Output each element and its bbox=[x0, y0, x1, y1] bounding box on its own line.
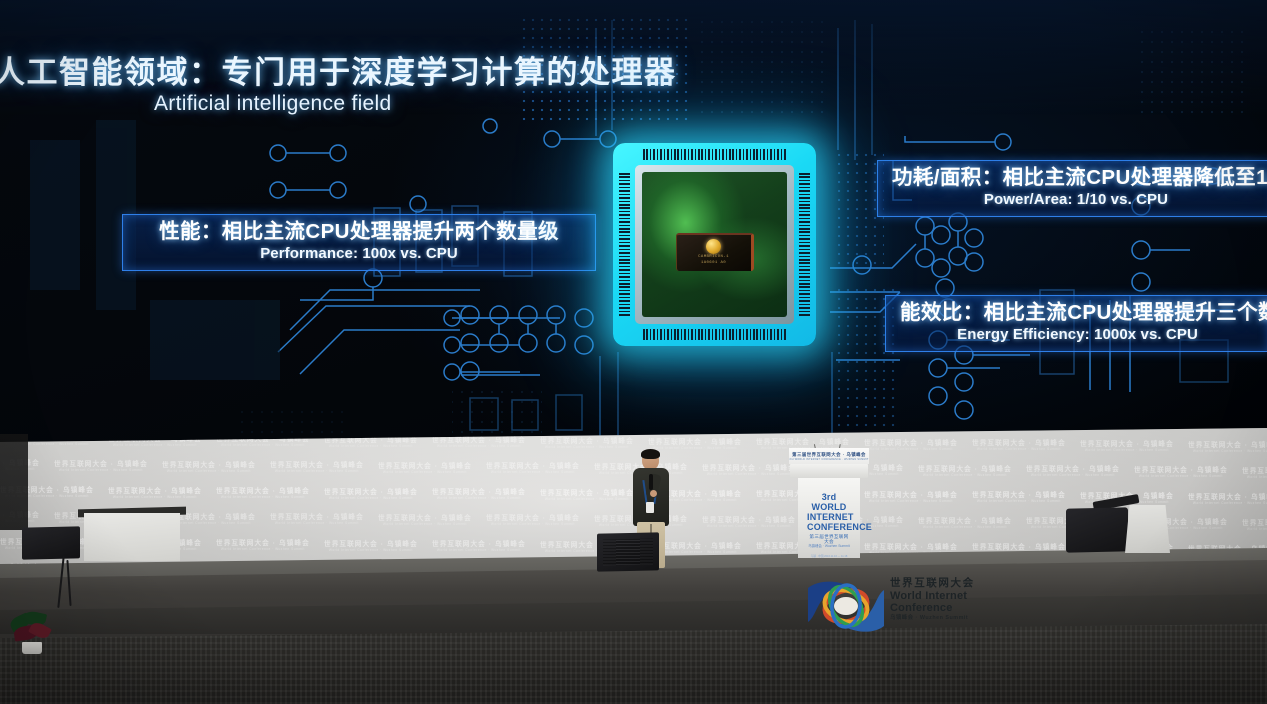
callout-energy-efficiency: 能效比：相比主流CPU处理器提升三个数量级 Energy Efficiency:… bbox=[885, 295, 1267, 352]
stage-monitor-grille bbox=[603, 538, 653, 565]
podium-body: 3rd WORLD INTERNET CONFERENCE 第三届世界互联网大会… bbox=[798, 478, 860, 558]
stage-light-arm bbox=[1093, 494, 1140, 511]
conference-stage-photo: 人工智能领域：专门用于深度学习计算的处理器 Artificial intelli… bbox=[0, 0, 1267, 704]
slide-title-cn: 人工智能领域：专门用于深度学习计算的处理器 bbox=[0, 56, 634, 91]
podium-header-banner: 第三届世界互联网大会 · 乌镇峰会 3rd WORLD INTERNET CON… bbox=[789, 448, 869, 464]
backdrop-watermark: 世界互联网大会 · 乌镇峰会World Internet Conference … bbox=[810, 466, 904, 476]
chip-pins-bottom bbox=[643, 329, 786, 340]
backdrop-watermark: 世界互联网大会 · 乌镇峰会World Internet Conference … bbox=[162, 515, 256, 525]
speaker-podium: 第三届世界互联网大会 · 乌镇峰会 3rd WORLD INTERNET CON… bbox=[798, 472, 860, 558]
presenter-arm bbox=[645, 473, 661, 499]
backdrop-watermark: 世界互联网大会 · 乌镇峰会World Internet Conference … bbox=[918, 571, 1012, 578]
podium-sub: 乌镇峰会 · Wuzhen Summit bbox=[807, 545, 851, 549]
backdrop-watermark: 世界互联网大会 · 乌镇峰会World Internet Conference … bbox=[1080, 546, 1174, 556]
backdrop-watermark: 世界互联网大会 · 乌镇峰会World Internet Conference … bbox=[972, 493, 1066, 503]
backdrop-watermark: 世界互联网大会 · 乌镇峰会World Internet Conference … bbox=[108, 489, 202, 499]
floor-logo-cn: 世界互联网大会 bbox=[890, 578, 1040, 590]
backdrop-watermark: 世界互联网大会 · 乌镇峰会World Internet Conference … bbox=[0, 488, 94, 498]
presenter-badge bbox=[646, 502, 654, 513]
backdrop-watermark: 世界互联网大会 · 乌镇峰会World Internet Conference … bbox=[972, 441, 1066, 451]
backdrop-watermark: 世界互联网大会 · 乌镇峰会World Internet Conference … bbox=[540, 439, 634, 449]
chip-package: CAMBRICON-1 1A0601 A0 bbox=[635, 165, 794, 324]
backdrop-watermark: 世界互联网大会 · 乌镇峰会World Internet Conference … bbox=[1242, 573, 1267, 578]
stage-step bbox=[0, 594, 1267, 634]
backdrop-watermark: 世界互联网大会 · 乌镇峰会World Internet Conference … bbox=[648, 544, 742, 554]
backdrop-watermark: 世界互联网大会 · 乌镇峰会World Internet Conference … bbox=[1242, 469, 1267, 479]
backdrop-watermark: 世界互联网大会 · 乌镇峰会World Internet Conference … bbox=[162, 567, 256, 577]
backdrop-watermark: 世界互联网大会 · 乌镇峰会World Internet Conference … bbox=[324, 490, 418, 500]
backdrop-watermark: 世界互联网大会 · 乌镇峰会World Internet Conference … bbox=[270, 567, 364, 577]
stage-table bbox=[84, 513, 180, 561]
floor-logo-text: 世界互联网大会 World Internet Conference 乌镇峰会 ·… bbox=[890, 578, 1040, 621]
plant-pot bbox=[22, 642, 42, 654]
backdrop-watermark: 世界互联网大会 · 乌镇峰会World Internet Conference … bbox=[270, 463, 364, 473]
floor-logo-en2: Conference bbox=[890, 602, 1040, 614]
presentation-screen: 人工智能领域：专门用于深度学习计算的处理器 Artificial intelli… bbox=[0, 0, 1267, 442]
backdrop-watermark: 世界互联网大会 · 乌镇峰会World Internet Conference … bbox=[648, 492, 742, 502]
backdrop-watermark: 世界互联网大会 · 乌镇峰会World Internet Conference … bbox=[1026, 519, 1120, 529]
chip-text-line2: 1A0601 A0 bbox=[701, 261, 726, 266]
wic-logo-mark-icon bbox=[800, 578, 892, 634]
chip-die: CAMBRICON-1 1A0601 A0 bbox=[642, 172, 787, 317]
backdrop-watermark: 世界互联网大会 · 乌镇峰会World Internet Conference … bbox=[216, 541, 310, 551]
podium-mic-stem-left bbox=[814, 444, 819, 464]
backdrop-watermark: 世界互联网大会 · 乌镇峰会World Internet Conference … bbox=[1134, 520, 1228, 530]
callout-power-area-en: Power/Area: 1/10 vs. CPU bbox=[892, 191, 1260, 209]
podium-line3: CONFERENCE bbox=[807, 522, 851, 532]
backdrop-watermark: 世界互联网大会 · 乌镇峰会World Internet Conference … bbox=[54, 566, 148, 576]
chip-inner-module: CAMBRICON-1 1A0601 A0 bbox=[676, 233, 754, 271]
floor-logo-subtitle: 乌镇峰会 · Wuzhen Summit bbox=[890, 615, 1040, 621]
slide-title-en: Artificial intelligence field bbox=[154, 92, 634, 116]
backdrop-watermark: 世界互联网大会 · 乌镇峰会World Internet Conference … bbox=[378, 568, 472, 578]
backdrop-watermark: 世界互联网大会 · 乌镇峰会World Internet Conference … bbox=[594, 569, 688, 578]
callout-power-area: 功耗/面积：相比主流CPU处理器降低至1/10 Power/Area: 1/10… bbox=[877, 160, 1267, 217]
backdrop-watermark: 世界互联网大会 · 乌镇峰会World Internet Conference … bbox=[1188, 547, 1267, 557]
podium-body-text: 乌镇 · 中国 2016.11.16 — 11.18 bbox=[807, 555, 851, 559]
podium-mic-stem-right bbox=[836, 444, 840, 464]
callout-energy-efficiency-en: Energy Efficiency: 1000x vs. CPU bbox=[900, 326, 1255, 344]
backdrop-watermark: 世界互联网大会 · 乌镇峰会World Internet Conference … bbox=[1242, 521, 1267, 531]
presenter-torso bbox=[633, 468, 669, 526]
podium-banner-en: 3rd WORLD INTERNET CONFERENCE · WUZHEN S… bbox=[789, 458, 869, 461]
backdrop-watermark: 世界互联网大会 · 乌镇峰会World Internet Conference … bbox=[1026, 467, 1120, 477]
podium-signage: 3rd WORLD INTERNET CONFERENCE 第三届世界互联网大会… bbox=[807, 492, 851, 559]
backdrop-watermark: 世界互联网大会 · 乌镇峰会World Internet Conference … bbox=[378, 464, 472, 474]
backdrop-watermark: 世界互联网大会 · 乌镇峰会World Internet Conference … bbox=[594, 517, 688, 527]
backdrop-watermark: 世界互联网大会 · 乌镇峰会World Internet Conference … bbox=[1026, 571, 1120, 578]
auditorium-floor bbox=[0, 624, 1267, 704]
stage-monitor-center bbox=[597, 532, 659, 571]
backdrop-watermark: 世界互联网大会 · 乌镇峰会World Internet Conference … bbox=[594, 465, 688, 475]
callout-performance: 性能：相比主流CPU处理器提升两个数量级 Performance: 100x v… bbox=[122, 214, 596, 271]
backdrop-watermark: 世界互联网大会 · 乌镇峰会World Internet Conference … bbox=[0, 513, 40, 523]
backdrop-watermark: 世界互联网大会 · 乌镇峰会World Internet Conference … bbox=[810, 518, 904, 528]
chip-pins-right bbox=[799, 173, 810, 316]
backdrop-watermark: 世界互联网大会 · 乌镇峰会World Internet Conference … bbox=[54, 514, 148, 524]
stage-monitor-left bbox=[22, 526, 80, 559]
backdrop-watermark: 世界互联网大会 · 乌镇峰会World Internet Conference … bbox=[378, 516, 472, 526]
chip-logo-icon bbox=[706, 239, 721, 254]
stage-deck bbox=[0, 548, 1267, 578]
backdrop-watermark: 世界互联网大会 · 乌镇峰会World Internet Conference … bbox=[648, 440, 742, 450]
backdrop-watermark: 世界互联网大会 · 乌镇峰会World Internet Conference … bbox=[324, 542, 418, 552]
backdrop-watermark: 世界互联网大会 · 乌镇峰会World Internet Conference … bbox=[918, 519, 1012, 529]
podium-cn: 第三届世界互联网大会 bbox=[807, 534, 851, 544]
backdrop-watermark: 世界互联网大会 · 乌镇峰会World Internet Conference … bbox=[702, 570, 796, 578]
backdrop-watermark: 世界互联网大会 · 乌镇峰会World Internet Conference … bbox=[1080, 442, 1174, 452]
callout-performance-cn: 性能：相比主流CPU处理器提升两个数量级 bbox=[137, 220, 581, 244]
backdrop-watermark: 世界互联网大会 · 乌镇峰会World Internet Conference … bbox=[162, 463, 256, 473]
backdrop-watermark: 世界互联网大会 · 乌镇峰会World Internet Conference … bbox=[810, 570, 904, 578]
slide-title-block: 人工智能领域：专门用于深度学习计算的处理器 Artificial intelli… bbox=[0, 56, 634, 116]
chip-pins-left bbox=[619, 173, 630, 316]
backdrop-watermark: 世界互联网大会 · 乌镇峰会World Internet Conference … bbox=[108, 541, 202, 551]
stage-plant bbox=[8, 610, 56, 654]
podium-line1: 3rd WORLD bbox=[807, 492, 851, 512]
floor-conference-logo: 世界互联网大会 World Internet Conference 乌镇峰会 ·… bbox=[792, 576, 1042, 638]
backdrop-watermark: 世界互联网大会 · 乌镇峰会World Internet Conference … bbox=[1188, 495, 1267, 505]
backdrop-watermark: 世界互联网大会 · 乌镇峰会World Internet Conference … bbox=[702, 518, 796, 528]
stage-backdrop-wall: 世界互联网大会 · 乌镇峰会World Internet Conference … bbox=[0, 428, 1267, 578]
stage-left-shadow bbox=[0, 434, 28, 530]
callout-performance-en: Performance: 100x vs. CPU bbox=[137, 245, 581, 263]
backdrop-watermark: 世界互联网大会 · 乌镇峰会World Internet Conference … bbox=[432, 542, 526, 552]
backdrop-watermark: 世界互联网大会 · 乌镇峰会World Internet Conference … bbox=[0, 540, 94, 550]
backdrop-watermark: 世界互联网大会 · 乌镇峰会World Internet Conference … bbox=[1134, 572, 1228, 578]
backdrop-watermark: 世界互联网大会 · 乌镇峰会World Internet Conference … bbox=[270, 515, 364, 525]
stage-white-block bbox=[1125, 505, 1170, 553]
presenter-leg-split bbox=[650, 524, 652, 568]
chip-pins-top bbox=[643, 149, 786, 160]
backdrop-watermark: 世界互联网大会 · 乌镇峰会World Internet Conference … bbox=[756, 440, 850, 450]
floor-logo-en1: World Internet bbox=[890, 590, 1040, 602]
backdrop-watermark: 世界互联网大会 · 乌镇峰会World Internet Conference … bbox=[864, 441, 958, 451]
backdrop-watermark: 世界互联网大会 · 乌镇峰会World Internet Conference … bbox=[918, 467, 1012, 477]
presenter-microphone bbox=[649, 474, 653, 490]
backdrop-watermark: 世界互联网大会 · 乌镇峰会World Internet Conference … bbox=[1188, 443, 1267, 453]
backdrop-watermark: 世界互联网大会 · 乌镇峰会World Internet Conference … bbox=[432, 490, 526, 500]
stage-cable-2 bbox=[66, 560, 71, 606]
backdrop-watermark: 世界互联网大会 · 乌镇峰会World Internet Conference … bbox=[864, 493, 958, 503]
backdrop-watermark: 世界互联网大会 · 乌镇峰会World Internet Conference … bbox=[702, 466, 796, 476]
backdrop-watermark: 世界互联网大会 · 乌镇峰会World Internet Conference … bbox=[972, 545, 1066, 555]
backdrop-watermark: 世界互联网大会 · 乌镇峰会World Internet Conference … bbox=[540, 491, 634, 501]
presenter-lanyard-left bbox=[642, 480, 647, 504]
backdrop-watermark: 世界互联网大会 · 乌镇峰会World Internet Conference … bbox=[0, 565, 40, 575]
presenter bbox=[628, 450, 674, 568]
backdrop-watermark: 世界互联网大会 · 乌镇峰会World Internet Conference … bbox=[432, 438, 526, 448]
presenter-lanyard-right bbox=[653, 480, 658, 504]
podium-banner-cn: 第三届世界互联网大会 · 乌镇峰会 bbox=[789, 452, 869, 458]
presenter-legs bbox=[637, 522, 665, 568]
stage-table-top bbox=[78, 507, 186, 518]
presenter-hair bbox=[641, 449, 660, 459]
processor-chip-graphic: CAMBRICON-1 1A0601 A0 bbox=[613, 143, 816, 346]
backdrop-watermark: 世界互联网大会 · 乌镇峰会World Internet Conference … bbox=[54, 462, 148, 472]
backdrop-watermark: 世界互联网大会 · 乌镇峰会World Internet Conference … bbox=[486, 568, 580, 578]
backdrop-watermark: 世界互联网大会 · 乌镇峰会World Internet Conference … bbox=[540, 543, 634, 553]
backdrop-watermark: 世界互联网大会 · 乌镇峰会World Internet Conference … bbox=[216, 489, 310, 499]
stage-front-face bbox=[0, 560, 1267, 640]
backdrop-watermark: 世界互联网大会 · 乌镇峰会World Internet Conference … bbox=[1134, 468, 1228, 478]
stage-monitor-right bbox=[1066, 507, 1128, 552]
callout-power-area-cn: 功耗/面积：相比主流CPU处理器降低至1/10 bbox=[892, 166, 1260, 190]
backdrop-watermark: 世界互联网大会 · 乌镇峰会World Internet Conference … bbox=[486, 516, 580, 526]
callout-energy-efficiency-cn: 能效比：相比主流CPU处理器提升三个数量级 bbox=[900, 301, 1255, 325]
backdrop-watermark: 世界互联网大会 · 乌镇峰会World Internet Conference … bbox=[1080, 494, 1174, 504]
backdrop-watermark: 世界互联网大会 · 乌镇峰会World Internet Conference … bbox=[486, 464, 580, 474]
stage-cable-1 bbox=[57, 556, 64, 608]
podium-top-surface bbox=[790, 464, 868, 478]
presenter-hand bbox=[650, 490, 657, 497]
backdrop-watermark: 世界互联网大会 · 乌镇峰会World Internet Conference … bbox=[756, 544, 850, 554]
backdrop-watermark: 世界互联网大会 · 乌镇峰会World Internet Conference … bbox=[756, 492, 850, 502]
backdrop-watermark: 世界互联网大会 · 乌镇峰会World Internet Conference … bbox=[864, 545, 958, 555]
presenter-head bbox=[642, 450, 659, 470]
backdrop-watermark: 世界互联网大会 · 乌镇峰会World Internet Conference … bbox=[0, 461, 40, 471]
backdrop-watermark: 世界互联网大会 · 乌镇峰会World Internet Conference … bbox=[324, 438, 418, 448]
podium-line2: INTERNET bbox=[807, 512, 851, 522]
